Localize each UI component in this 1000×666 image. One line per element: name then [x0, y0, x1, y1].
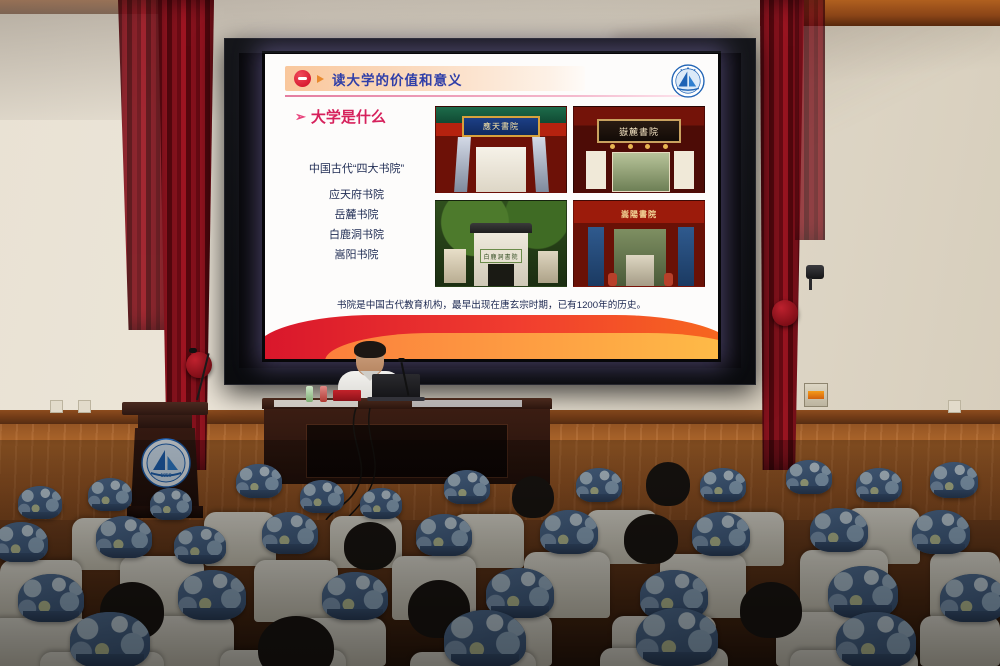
wall-switch-left	[50, 400, 63, 413]
curtain-right-outer	[795, 0, 825, 240]
audience	[0, 440, 1000, 666]
slide-subheading-text: 大学是什么	[311, 106, 386, 127]
songyang-plaque: 嵩陽書院	[611, 207, 667, 221]
laptop	[372, 374, 420, 399]
arrow-bullet-icon: ➢	[295, 109, 306, 125]
yuelu-academy-photo: 嶽麓書院	[573, 106, 705, 193]
table-microphone-head	[398, 358, 405, 362]
water-bottle	[306, 386, 313, 402]
bailudong-academy-photo: 白鹿洞書院	[435, 200, 567, 287]
yingtian-plaque: 應天書院	[462, 116, 540, 137]
play-triangle-icon	[317, 75, 324, 83]
bailudong-plaque: 白鹿洞書院	[480, 249, 522, 263]
slide-ribbon-decoration	[265, 313, 718, 359]
academy-item-1: 应天府书院	[279, 186, 434, 202]
academy-heading: 中国古代“四大书院”	[279, 160, 434, 176]
yingtian-academy-photo: 應天書院	[435, 106, 567, 193]
audience-shading	[0, 440, 1000, 666]
university-emblem-icon	[671, 64, 705, 98]
slide-title: 读大学的价值和意义	[332, 69, 463, 89]
red-nameplate	[333, 390, 361, 401]
auditorium-scene: 读大学的价值和意义 ➢ 大学是什么 中国古代“四大书院” 应天府书院 岳麓书院 …	[0, 0, 1000, 666]
academy-item-2: 岳麓书院	[279, 206, 434, 222]
academy-item-4: 嵩阳书院	[279, 246, 434, 262]
slide-title-underline	[285, 95, 695, 97]
emergency-exit-box	[804, 383, 828, 407]
laptop-base	[367, 397, 425, 401]
curtain-tie-right	[772, 300, 798, 326]
slide-subheading: ➢ 大学是什么	[295, 106, 386, 127]
slide-caption: 书院是中国古代教育机构，最早出现在唐玄宗时期，已有1200年的历史。	[265, 297, 718, 311]
songyang-academy-photo: 嵩陽書院	[573, 200, 705, 287]
podium-microphone-head	[189, 348, 197, 353]
wall-socket	[948, 400, 961, 413]
presentation-slide: 读大学的价值和意义 ➢ 大学是什么 中国古代“四大书院” 应天府书院 岳麓书院 …	[265, 54, 718, 359]
yuelu-plaque: 嶽麓書院	[597, 119, 681, 143]
drink-bottle	[320, 386, 327, 402]
academy-item-3: 白鹿洞书院	[279, 226, 434, 242]
slide-title-bar: 读大学的价值和意义	[285, 66, 585, 91]
wall-camera-icon	[806, 265, 824, 279]
minus-circle-icon	[294, 70, 311, 87]
curtain-left	[158, 0, 214, 470]
wall-switch-left-2	[78, 400, 91, 413]
